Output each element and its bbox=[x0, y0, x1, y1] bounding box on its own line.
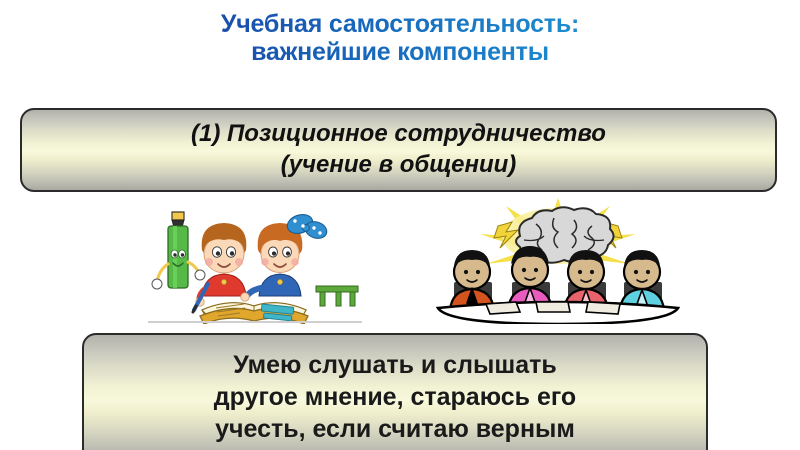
title-line-2: важнейшие компоненты bbox=[0, 38, 800, 66]
statement-box-text: (1) Позиционное сотрудничество (учение в… bbox=[177, 119, 620, 180]
outcome-box: Умею слушать и слышать другое мнение, ст… bbox=[82, 333, 708, 450]
person-1 bbox=[450, 250, 494, 310]
boy-figure bbox=[193, 223, 246, 312]
illustration-row bbox=[0, 198, 800, 324]
outcome-box-text: Умею слушать и слышать другое мнение, ст… bbox=[202, 350, 588, 445]
slide-title: Учебная самостоятельность: важнейшие ком… bbox=[0, 10, 800, 66]
pencil-character bbox=[152, 212, 205, 289]
statement-box: (1) Позиционное сотрудничество (учение в… bbox=[20, 108, 777, 192]
person-4 bbox=[620, 250, 664, 310]
title-line-1: Учебная самостоятельность: bbox=[0, 10, 800, 38]
person-2 bbox=[508, 246, 552, 310]
slide-root: Учебная самостоятельность: важнейшие ком… bbox=[0, 0, 800, 450]
brainstorm-clipart bbox=[428, 198, 688, 324]
kids-reading-clipart bbox=[140, 198, 370, 324]
open-book bbox=[200, 303, 308, 324]
bench-shape bbox=[316, 286, 358, 306]
meeting-table bbox=[438, 302, 678, 324]
